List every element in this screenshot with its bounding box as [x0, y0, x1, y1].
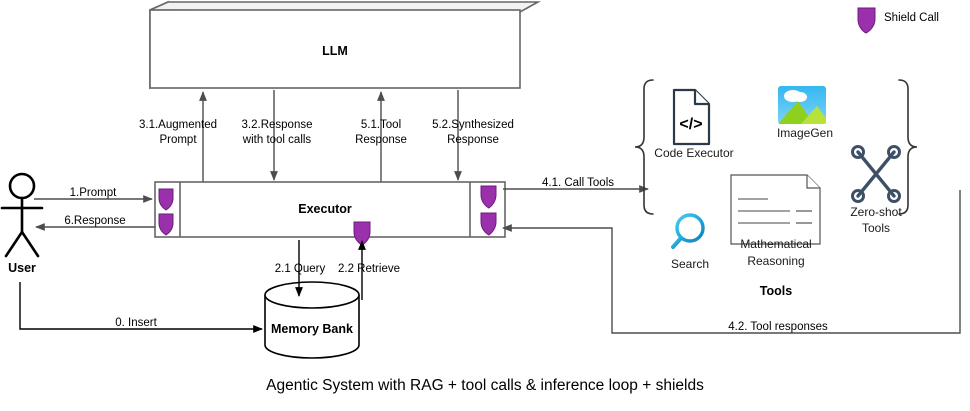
- flow-label-tool-response-line2: Response: [355, 134, 407, 146]
- flow-response: 6.Response: [36, 215, 155, 227]
- flow-label-augmented-prompt-line2: Prompt: [159, 134, 197, 146]
- flow-label-retrieve: 2.2 Retrieve: [338, 263, 400, 275]
- code-glyph: </>: [679, 116, 702, 133]
- flow-label-augmented-prompt-line1: 3.1.Augmented: [139, 119, 217, 131]
- memory-bank-node[interactable]: Memory Bank: [265, 282, 359, 358]
- tool-label-search: Search: [671, 257, 709, 271]
- tool-label-imagegen: ImageGen: [777, 126, 833, 140]
- shield-icon-legend: [858, 8, 875, 33]
- flow-call-tools: 4.1. Call Tools: [503, 177, 648, 189]
- user-label: User: [8, 261, 36, 275]
- image-icon: [778, 86, 830, 124]
- executor-node[interactable]: Executor: [155, 182, 505, 237]
- memory-bank-label: Memory Bank: [271, 322, 353, 336]
- flow-label-prompt: 1.Prompt: [70, 187, 117, 199]
- tool-imagegen[interactable]: ImageGen: [777, 86, 833, 140]
- flow-prompt: 1.Prompt: [34, 187, 152, 199]
- flow-label-synthesized-line2: Response: [447, 134, 499, 146]
- tools-group-label: Tools: [760, 284, 792, 298]
- magnifier-icon: [673, 215, 703, 247]
- llm-label: LLM: [322, 44, 348, 58]
- flow-label-response-tool-calls-line1: 3.2.Response: [242, 119, 313, 131]
- flow-label-tool-response-line1: 5.1.Tool: [361, 119, 401, 131]
- flow-label-response-tool-calls-line2: with tool calls: [242, 134, 312, 146]
- flow-augmented-prompt: 3.1.Augmented Prompt: [139, 92, 217, 184]
- legend-label: Shield Call: [884, 12, 939, 24]
- math-document-icon: [731, 175, 820, 244]
- tool-search[interactable]: Search: [671, 215, 709, 271]
- flow-insert: 0. Insert: [20, 282, 262, 329]
- flow-label-response: 6.Response: [64, 215, 125, 227]
- tool-zero-shot-tools[interactable]: Zero-shotTools: [850, 147, 902, 236]
- tool-label-zero-shot-line1: Zero-shotTools: [850, 205, 902, 235]
- user-actor[interactable]: User: [2, 174, 42, 275]
- diagram-caption: Agentic System with RAG + tool calls & i…: [266, 377, 704, 394]
- crossed-wrenches-icon: [853, 147, 900, 202]
- tool-mathematical-reasoning[interactable]: MathematicalReasoning: [731, 175, 820, 268]
- flow-response-with-tool-calls: 3.2.Response with tool calls: [242, 90, 313, 180]
- flow-label-synthesized-line1: 5.2.Synthesized: [432, 119, 514, 131]
- tool-label-code-executor: Code Executor: [654, 146, 733, 160]
- tool-code-executor[interactable]: </> Code Executor: [654, 90, 733, 160]
- flow-label-tool-responses: 4.2. Tool responses: [728, 321, 828, 333]
- flow-label-query: 2.1 Query: [275, 263, 326, 275]
- flow-tool-response: 5.1.Tool Response: [355, 92, 407, 184]
- architecture-diagram: LLM 3.1.Augmented Prompt 3.2.Response wi…: [0, 0, 970, 411]
- tool-label-math-line1: MathematicalReasoning: [740, 237, 811, 268]
- code-document-icon: </>: [674, 90, 709, 144]
- llm-node[interactable]: LLM: [150, 2, 538, 88]
- flow-label-call-tools: 4.1. Call Tools: [542, 177, 614, 189]
- flow-label-insert: 0. Insert: [115, 317, 157, 329]
- diagram-canvas: LLM 3.1.Augmented Prompt 3.2.Response wi…: [0, 0, 970, 411]
- flow-synthesized-response: 5.2.Synthesized Response: [432, 90, 514, 180]
- executor-label: Executor: [298, 202, 352, 216]
- legend-shield-call: Shield Call: [858, 8, 939, 33]
